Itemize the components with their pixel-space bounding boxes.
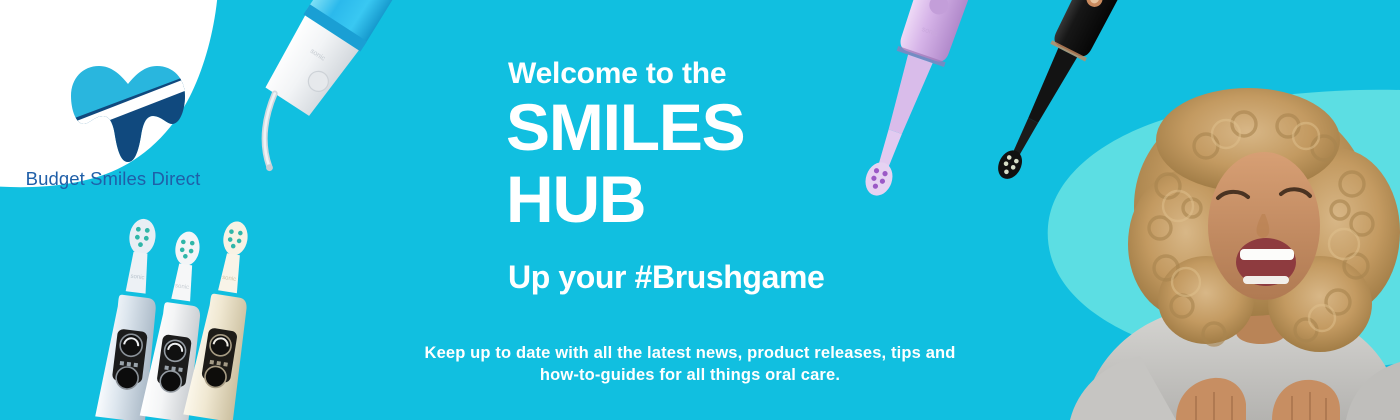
subcopy-line-2: how-to-guides for all things oral care. xyxy=(250,364,1130,386)
headline-tagline: Up your #Brushgame xyxy=(508,261,1146,295)
subcopy-line-1: Keep up to date with all the latest news… xyxy=(250,342,1130,364)
smiles-hub-banner: sonic sonic xyxy=(0,0,1400,420)
subcopy-block: Keep up to date with all the latest news… xyxy=(250,342,1130,387)
logo-badge-shape xyxy=(0,0,222,198)
headline-title-line-2: HUB xyxy=(506,168,1146,231)
headline-title-line-1: SMILES xyxy=(506,96,1146,159)
headline-eyebrow: Welcome to the xyxy=(508,58,1146,89)
headline-block: Welcome to the SMILES HUB Up your #Brush… xyxy=(506,58,1146,295)
